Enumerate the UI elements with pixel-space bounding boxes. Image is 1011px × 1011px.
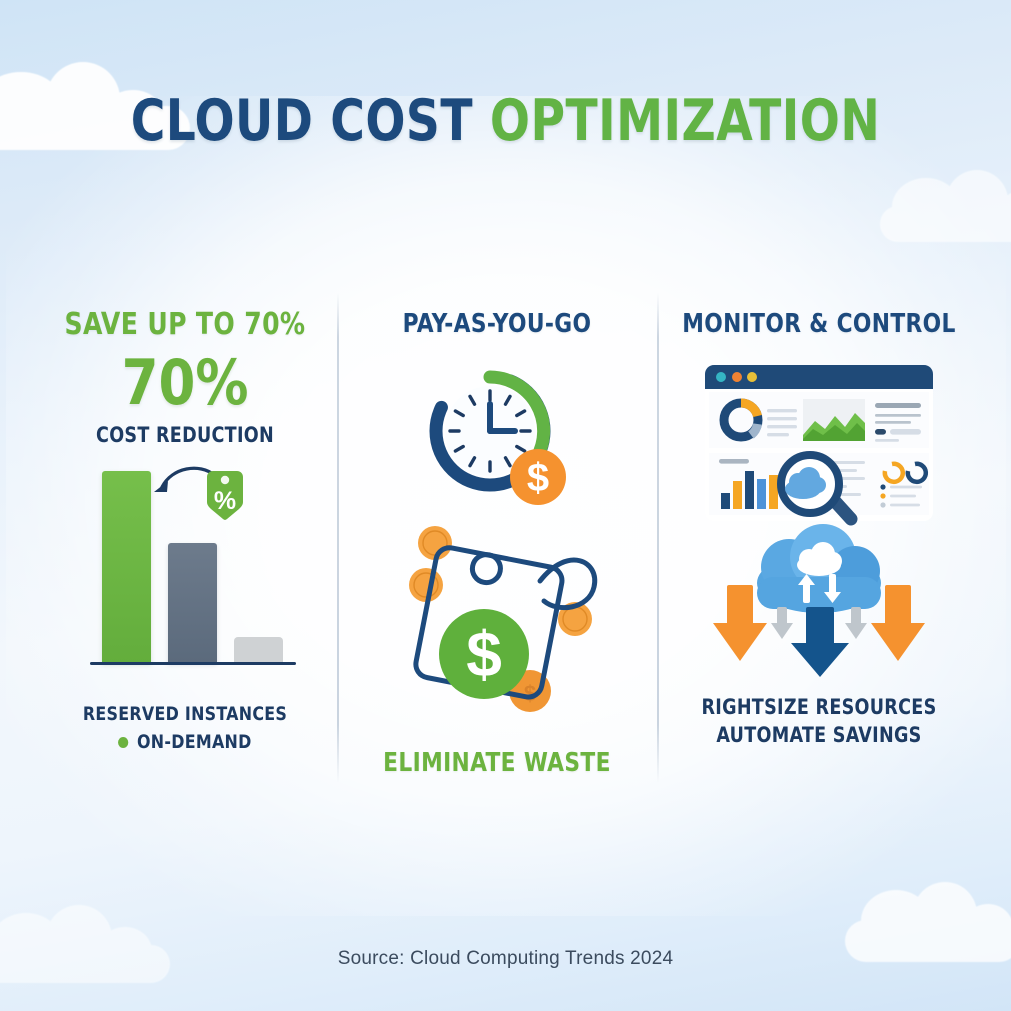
panel-savings: SAVE UP TO 70% 70% COST REDUCTION % — [40, 285, 330, 785]
legend-item-on-demand-label: ON-DEMAND — [137, 729, 252, 757]
panel-monitor-control-footer: RIGHTSIZE RESOURCES AUTOMATE SAVINGS — [678, 693, 961, 750]
cloud-download-arrows-icon — [699, 519, 939, 679]
cloud-bottom-left-icon — [0, 905, 170, 983]
dashboard-magnifier-icon — [699, 361, 939, 541]
cost-reduction-caption: COST REDUCTION — [50, 423, 320, 447]
legend-item-on-demand: ON-DEMAND — [50, 729, 320, 757]
cost-reduction-stat: 70% — [47, 352, 323, 414]
bar-on-demand — [168, 543, 217, 663]
page-title: CLOUD COST OPTIMIZATION — [40, 93, 970, 150]
legend-dot-icon — [118, 737, 128, 748]
page-title-part-1: CLOUD COST — [131, 88, 490, 154]
bar-chart: % — [40, 459, 330, 699]
svg-text:$: $ — [527, 456, 549, 500]
infographic-canvas: CLOUD COST OPTIMIZATION SAVE UP TO 70% 7… — [0, 0, 1011, 1011]
panels-row: SAVE UP TO 70% 70% COST REDUCTION % — [40, 285, 971, 785]
bar-other — [234, 637, 283, 663]
bar-group — [98, 463, 288, 663]
panel-divider-2 — [657, 293, 659, 783]
svg-text:$: $ — [466, 618, 502, 690]
page-title-part-2: OPTIMIZATION — [490, 88, 880, 154]
chart-legend: RESERVED INSTANCES ON-DEMAND — [40, 701, 330, 756]
legend-item-reserved-instances: RESERVED INSTANCES — [50, 701, 320, 729]
chart-baseline — [90, 662, 296, 665]
clock-dollar-icon: $ — [422, 363, 572, 513]
price-tag-coins-icon: $ $ — [372, 521, 622, 736]
bar-reserved-instances — [102, 471, 151, 663]
cloud-top-right-icon — [880, 170, 1011, 242]
panel-monitor-control-heading: MONITOR & CONTROL — [678, 309, 961, 339]
source-caption: Source: Cloud Computing Trends 2024 — [0, 948, 1011, 970]
panel-pay-as-you-go: PAY-AS-YOU-GO — [347, 285, 647, 785]
panel-savings-heading: SAVE UP TO 70% — [50, 307, 320, 342]
panel-monitor-control: MONITOR & CONTROL — [667, 285, 971, 785]
panel-pay-as-you-go-footer: ELIMINATE WASTE — [358, 748, 637, 778]
panel-divider-1 — [337, 293, 339, 783]
panel-pay-as-you-go-heading: PAY-AS-YOU-GO — [358, 309, 637, 339]
panel-monitor-control-footer-line-1: RIGHTSIZE RESOURCES — [678, 693, 961, 721]
panel-monitor-control-footer-line-2: AUTOMATE SAVINGS — [678, 721, 961, 749]
